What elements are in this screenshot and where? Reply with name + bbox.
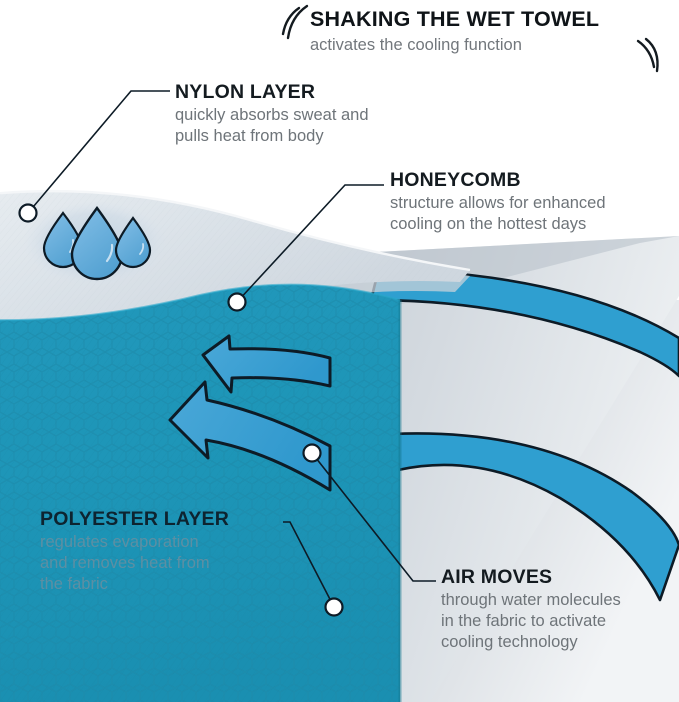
callout-air-body-line: cooling technology <box>441 632 621 653</box>
callout-honeycomb-body-line: cooling on the hottest days <box>390 214 606 235</box>
callout-nylon-body-line: quickly absorbs sweat and <box>175 105 369 126</box>
callout-polyester-heading: POLYESTER LAYER <box>40 509 229 529</box>
page-title: SHAKING THE WET TOWEL <box>310 8 670 31</box>
callout-nylon-body: quickly absorbs sweat and pulls heat fro… <box>175 105 369 146</box>
leader-dot-air <box>304 445 321 462</box>
callout-polyester-body: regulates evaporation and removes heat f… <box>40 532 229 594</box>
callout-honeycomb-body: structure allows for enhanced cooling on… <box>390 193 606 234</box>
callout-polyester-body-line: and removes heat from <box>40 553 229 574</box>
leader-dot-nylon <box>20 205 37 222</box>
leader-dot-polyester <box>326 599 343 616</box>
callout-polyester-body-line: regulates evaporation <box>40 532 229 553</box>
page-subtitle: activates the cooling function <box>310 35 670 56</box>
callout-air-heading: AIR MOVES <box>441 567 621 587</box>
callout-nylon-body-line: pulls heat from body <box>175 126 369 147</box>
cooling-towel-infographic: SHAKING THE WET TOWEL activates the cool… <box>0 0 679 702</box>
callout-nylon-heading: NYLON LAYER <box>175 82 369 102</box>
callout-honeycomb: HONEYCOMB structure allows for enhanced … <box>390 170 606 235</box>
callout-polyester: POLYESTER LAYER regulates evaporation an… <box>40 509 229 594</box>
callout-honeycomb-body-line: structure allows for enhanced <box>390 193 606 214</box>
callout-air-body: through water molecules in the fabric to… <box>441 590 621 652</box>
leader-dot-honeycomb <box>229 294 246 311</box>
shake-arcs-left <box>283 6 307 38</box>
callout-polyester-body-line: the fabric <box>40 574 229 595</box>
callout-air-body-line: through water molecules <box>441 590 621 611</box>
teal-fabric <box>0 285 400 702</box>
title-block: SHAKING THE WET TOWEL activates the cool… <box>310 8 670 55</box>
callout-nylon: NYLON LAYER quickly absorbs sweat and pu… <box>175 82 369 147</box>
callout-air-moves: AIR MOVES through water molecules in the… <box>441 567 621 652</box>
callout-air-body-line: in the fabric to activate <box>441 611 621 632</box>
callout-honeycomb-heading: HONEYCOMB <box>390 170 606 190</box>
